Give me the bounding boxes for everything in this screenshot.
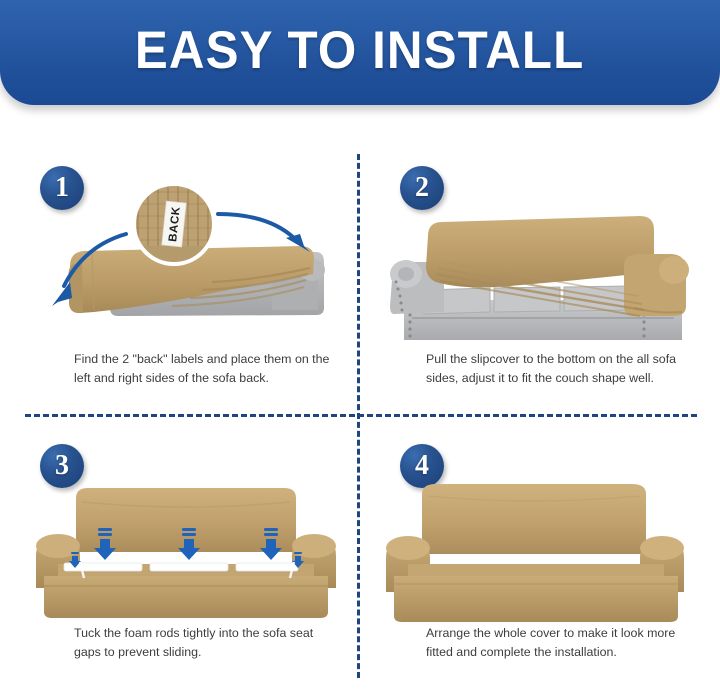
vertical-divider [357, 154, 360, 678]
step-1-panel: 1 [22, 150, 352, 400]
curved-arrow-right [218, 214, 294, 238]
step-4-illustration [382, 460, 712, 628]
sofa-seat-base-covered [44, 564, 328, 618]
step-3-caption: Tuck the foam rods tightly into the sofa… [74, 624, 342, 662]
sofa-seat-base-finished [394, 564, 678, 622]
step-1-caption: Find the 2 "back" labels and place them … [74, 350, 342, 388]
step-4-caption: Arrange the whole cover to make it look … [426, 624, 698, 662]
foam-rods [64, 563, 298, 571]
curved-arrow-left-head [52, 282, 72, 306]
step-2-caption: Pull the slipcover to the bottom on the … [426, 350, 698, 388]
step-2-illustration [382, 182, 712, 350]
page-title: EASY TO INSTALL [135, 24, 584, 81]
step-2-panel: 2 [382, 150, 712, 400]
step-3-panel: 3 [22, 428, 352, 678]
sofa-backrest-finished [422, 484, 646, 554]
header-banner: EASY TO INSTALL [0, 0, 720, 105]
step-3-illustration [22, 460, 352, 628]
horizontal-divider [25, 414, 697, 417]
step-4-panel: 4 [382, 428, 712, 678]
step-1-illustration: BACK [22, 182, 352, 350]
